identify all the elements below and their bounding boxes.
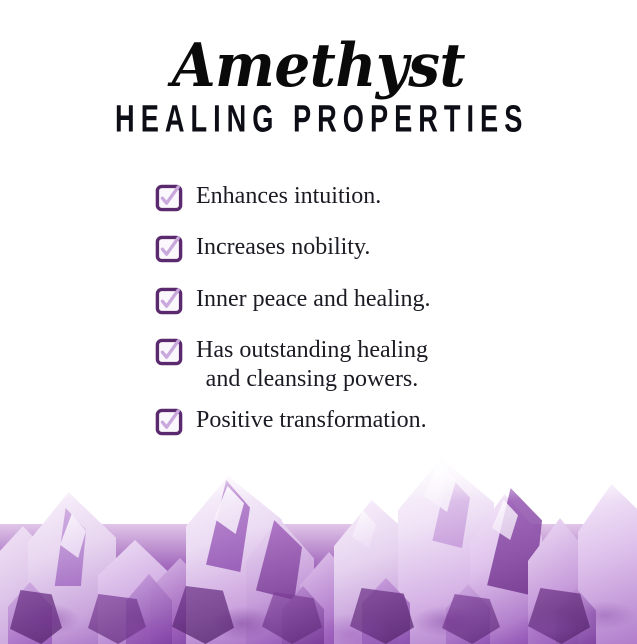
poster-header: Amethyst HEALING PROPERTIES — [0, 0, 637, 136]
checkbox-checked-icon — [156, 288, 182, 314]
page-title: Amethyst — [19, 36, 618, 96]
list-item-label: Has outstanding healing and cleansing po… — [182, 336, 428, 395]
list-item: Has outstanding healing and cleansing po… — [0, 336, 637, 395]
checkbox-checked-icon — [156, 409, 182, 435]
list-item-label: Increases nobility. — [182, 233, 370, 262]
photo-top-fade — [0, 439, 637, 501]
list-item-label: Inner peace and healing. — [182, 285, 431, 314]
amethyst-healing-properties-poster: Amethyst HEALING PROPERTIES Enhances int… — [0, 0, 637, 644]
list-item-label: Enhances intuition. — [182, 182, 381, 211]
list-item: Increases nobility. — [0, 233, 637, 262]
checkbox-checked-icon — [156, 185, 182, 211]
healing-properties-list: Enhances intuition. Increases nobility. … — [0, 182, 637, 436]
list-item: Enhances intuition. — [0, 182, 637, 211]
checkbox-checked-icon — [156, 236, 182, 262]
amethyst-crystal-cluster-photo — [0, 439, 637, 644]
list-item: Inner peace and healing. — [0, 285, 637, 314]
list-item: Positive transformation. — [0, 406, 637, 435]
page-subtitle: HEALING PROPERTIES — [64, 94, 574, 139]
checkbox-checked-icon — [156, 339, 182, 365]
crystal-bed — [0, 439, 637, 644]
list-item-label: Positive transformation. — [182, 406, 427, 435]
